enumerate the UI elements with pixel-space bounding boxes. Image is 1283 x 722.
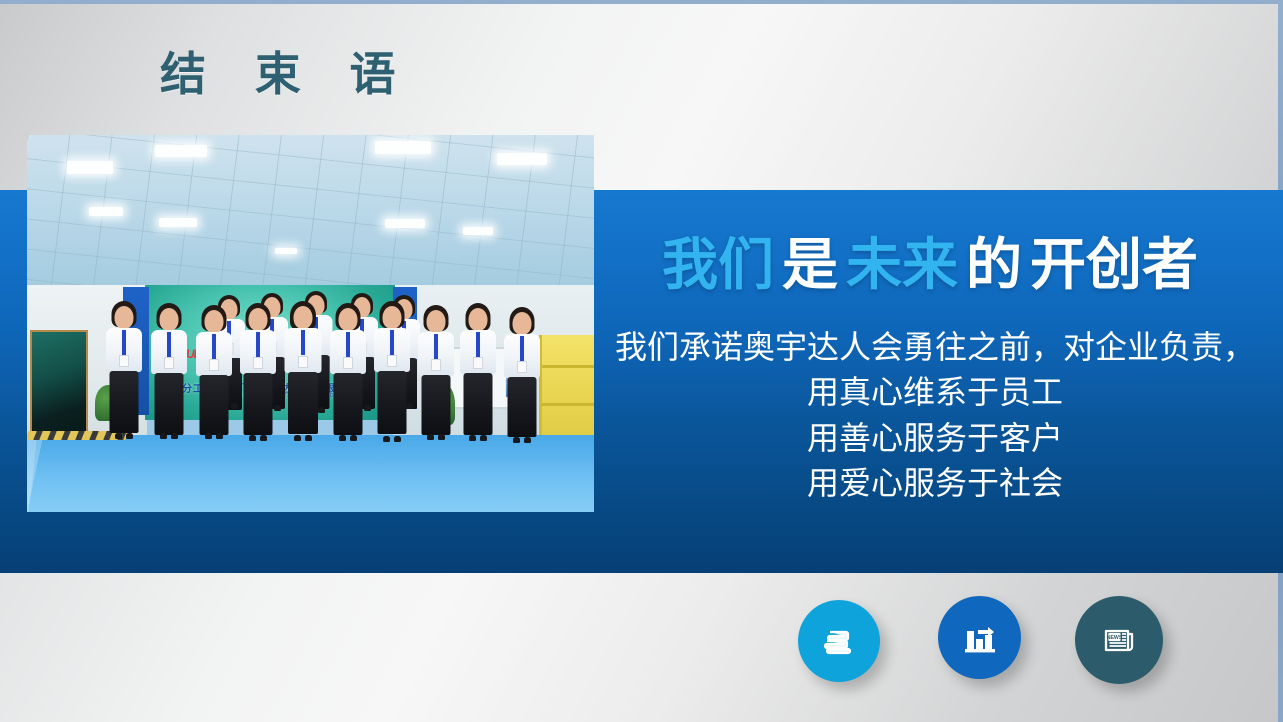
slide-canvas: 结 束 语 AOYUDA 深圳市奥宇达电子有限公司 SHENZHEN AO YU… bbox=[0, 0, 1283, 722]
headline-part-3: 未来 bbox=[846, 233, 958, 296]
chart-button[interactable] bbox=[938, 596, 1021, 679]
ceiling-lamp bbox=[463, 227, 493, 235]
top-accent-rule bbox=[0, 0, 1283, 4]
ceiling-lamp bbox=[385, 219, 425, 228]
photo-person bbox=[417, 305, 455, 467]
body-line-2: 用真心维系于员工 bbox=[600, 370, 1270, 415]
books-button[interactable] bbox=[798, 600, 880, 682]
news-icon: NEWS bbox=[1097, 618, 1141, 662]
ceiling-lamp bbox=[375, 141, 431, 154]
headline-part-2: 是 bbox=[782, 233, 838, 296]
team-photo: AOYUDA 深圳市奥宇达电子有限公司 SHENZHEN AO YUDA ELE… bbox=[27, 135, 594, 512]
ceiling-lamp bbox=[275, 248, 297, 254]
news-label: NEWS bbox=[1107, 635, 1123, 641]
ceiling-lamp bbox=[497, 153, 547, 165]
body-line-1: 我们承诺奥宇达人会勇往之前，对企业负责， bbox=[600, 325, 1270, 370]
ceiling-lamp bbox=[67, 161, 113, 174]
photo-person bbox=[105, 301, 143, 467]
ceiling-lamp bbox=[89, 207, 123, 216]
photo-person bbox=[195, 305, 233, 467]
photo-person bbox=[503, 307, 541, 467]
ceiling-lamp bbox=[155, 145, 207, 157]
photo-person bbox=[239, 303, 277, 467]
photo-person bbox=[373, 301, 411, 467]
banner-body-text: 我们承诺奥宇达人会勇往之前，对企业负责， 用真心维系于员工 用善心服务于客户 用… bbox=[600, 325, 1270, 507]
headline-part-5: 开创者 bbox=[1030, 233, 1198, 296]
bar-chart-icon bbox=[959, 617, 1001, 659]
icon-button-bar: NEWS bbox=[790, 592, 1170, 700]
body-line-4: 用爱心服务于社会 bbox=[600, 461, 1270, 506]
photo-person bbox=[150, 303, 188, 467]
page-title: 结 束 语 bbox=[160, 38, 414, 104]
books-icon bbox=[819, 621, 859, 661]
headline-part-4: 的 bbox=[966, 233, 1022, 296]
photo-person bbox=[459, 303, 497, 467]
banner-headline: 我们是未来的开创者 bbox=[600, 236, 1260, 295]
photo-person bbox=[329, 303, 367, 467]
news-button[interactable]: NEWS bbox=[1075, 596, 1163, 684]
ceiling-lamp bbox=[159, 218, 197, 227]
photo-person bbox=[283, 301, 323, 467]
headline-part-1: 我们 bbox=[662, 233, 774, 296]
body-line-3: 用善心服务于客户 bbox=[600, 416, 1270, 461]
